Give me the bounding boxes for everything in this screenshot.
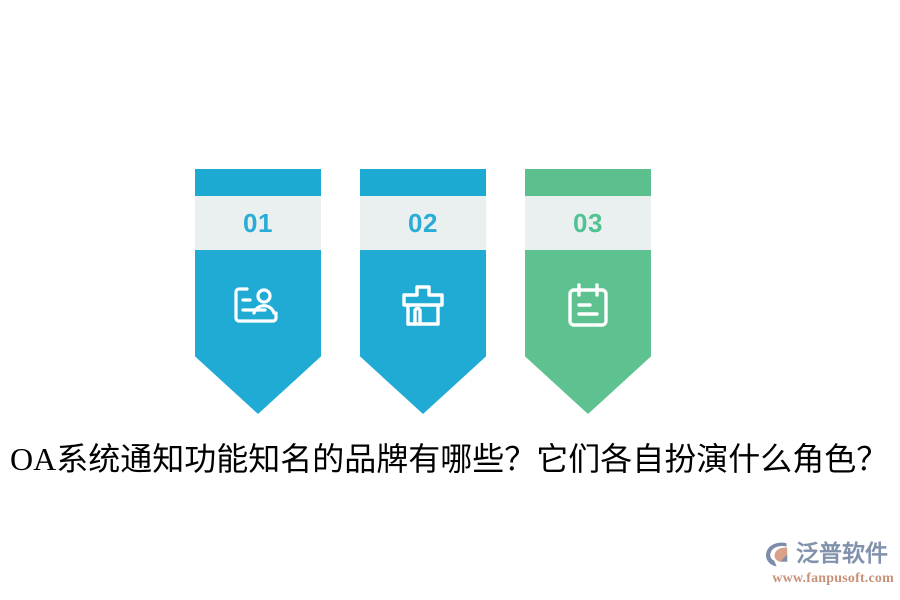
banner-item-01[interactable]: 01 bbox=[195, 169, 321, 414]
banner-number-01: 01 bbox=[243, 210, 273, 236]
brand-watermark: 泛普软件 www.fanpusoft.com bbox=[762, 538, 894, 590]
banner-number-02: 02 bbox=[408, 210, 438, 236]
shop-building-icon bbox=[360, 276, 486, 334]
notepad-lines-icon bbox=[525, 276, 651, 334]
banner-top-strip-02 bbox=[360, 169, 486, 196]
id-card-person-icon bbox=[195, 276, 321, 334]
brand-logo-row: 泛普软件 bbox=[762, 538, 894, 570]
fanpu-logo-icon bbox=[762, 539, 792, 569]
banner-group: 01 02 bbox=[195, 169, 655, 419]
page-title: OA系统通知功能知名的品牌有哪些？它们各自扮演什么角色？ bbox=[10, 437, 890, 481]
brand-url: www.fanpusoft.com bbox=[762, 571, 894, 587]
banner-item-02[interactable]: 02 bbox=[360, 169, 486, 414]
banner-number-band-01: 01 bbox=[195, 196, 321, 250]
brand-name: 泛普软件 bbox=[796, 543, 888, 566]
banner-item-03[interactable]: 03 bbox=[525, 169, 651, 414]
banner-number-band-03: 03 bbox=[525, 196, 651, 250]
banner-top-strip-01 bbox=[195, 169, 321, 196]
poster-canvas: 01 02 bbox=[0, 0, 900, 600]
banner-number-03: 03 bbox=[573, 210, 603, 236]
banner-number-band-02: 02 bbox=[360, 196, 486, 250]
banner-top-strip-03 bbox=[525, 169, 651, 196]
